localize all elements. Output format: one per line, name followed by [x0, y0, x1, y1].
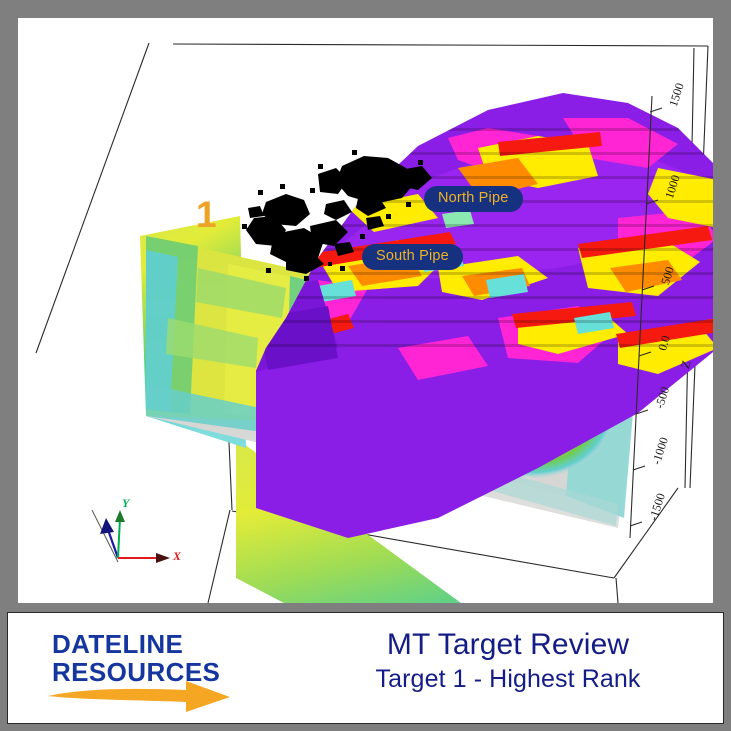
triad-label-y: Y [122, 496, 129, 511]
slide-root: North Pipe South Pipe 1 1500 1000 500 0.… [0, 0, 731, 731]
footer-bar: DATELINE RESOURCES MT Target Review Targ… [7, 612, 724, 724]
figure-panel: North Pipe South Pipe 1 1500 1000 500 0.… [18, 18, 713, 603]
triad-label-x: X [173, 549, 181, 564]
top-surface-voxels [218, 78, 713, 558]
logo-arrow-icon [46, 679, 232, 713]
footer-title-sub: Target 1 - Highest Rank [308, 664, 708, 694]
annotation-north-pipe: North Pipe [424, 186, 523, 212]
logo-line-dateline: DATELINE [52, 631, 282, 659]
target-number-label: 1 [196, 196, 217, 233]
footer-title-block: MT Target Review Target 1 - Highest Rank [308, 627, 708, 694]
triad-axes-icon [78, 496, 188, 578]
orientation-triad: Y X [78, 496, 188, 578]
footer-title-main: MT Target Review [308, 627, 708, 662]
annotation-south-pipe: South Pipe [362, 244, 463, 270]
